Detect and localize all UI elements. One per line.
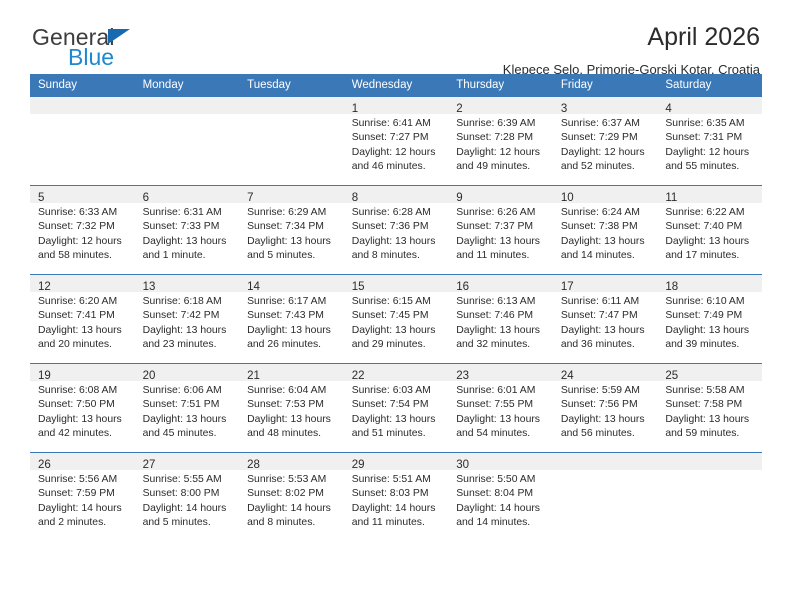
day-number-band: [239, 97, 344, 114]
daylight-duration-line2: and 39 minutes.: [665, 338, 756, 352]
day-cell-details: Sunrise: 6:33 AMSunset: 7:32 PMDaylight:…: [30, 203, 135, 263]
day-number: 5: [38, 192, 44, 204]
daylight-duration-line2: and 11 minutes.: [456, 249, 547, 263]
day-cell-details: Sunrise: 6:04 AMSunset: 7:53 PMDaylight:…: [239, 381, 344, 441]
calendar-day-cell[interactable]: 26Sunrise: 5:56 AMSunset: 7:59 PMDayligh…: [30, 453, 135, 542]
title-block: April 2026 Klepece Selo, Primorje-Gorski…: [503, 22, 760, 80]
sunrise-time: Sunrise: 6:03 AM: [352, 384, 443, 398]
calendar-day-cell[interactable]: 23Sunrise: 6:01 AMSunset: 7:55 PMDayligh…: [448, 364, 553, 453]
day-cell-details: Sunrise: 5:56 AMSunset: 7:59 PMDaylight:…: [30, 470, 135, 530]
day-cell-inner: 20Sunrise: 6:06 AMSunset: 7:51 PMDayligh…: [135, 364, 240, 441]
daylight-duration-line1: Daylight: 13 hours: [247, 235, 338, 249]
sunset-time: Sunset: 7:29 PM: [561, 131, 652, 145]
day-cell-details: Sunrise: 6:11 AMSunset: 7:47 PMDaylight:…: [553, 292, 658, 352]
daylight-duration-line2: and 23 minutes.: [143, 338, 234, 352]
page-header: General Blue April 2026 Klepece Selo, Pr…: [30, 0, 762, 74]
sunrise-time: Sunrise: 5:59 AM: [561, 384, 652, 398]
sunset-time: Sunset: 7:41 PM: [38, 309, 129, 323]
sunrise-time: Sunrise: 6:01 AM: [456, 384, 547, 398]
day-cell-details: Sunrise: 6:01 AMSunset: 7:55 PMDaylight:…: [448, 381, 553, 441]
daylight-duration-line2: and 52 minutes.: [561, 160, 652, 174]
weekday-header-thursday: Thursday: [448, 74, 553, 97]
calendar-day-cell[interactable]: 20Sunrise: 6:06 AMSunset: 7:51 PMDayligh…: [135, 364, 240, 453]
day-cell-details: Sunrise: 5:58 AMSunset: 7:58 PMDaylight:…: [657, 381, 762, 441]
daylight-duration-line1: Daylight: 12 hours: [38, 235, 129, 249]
day-cell-details: Sunrise: 6:08 AMSunset: 7:50 PMDaylight:…: [30, 381, 135, 441]
daylight-duration-line2: and 54 minutes.: [456, 427, 547, 441]
daylight-duration-line2: and 26 minutes.: [247, 338, 338, 352]
calendar-day-cell[interactable]: 7Sunrise: 6:29 AMSunset: 7:34 PMDaylight…: [239, 186, 344, 275]
day-cell-inner: [30, 97, 135, 114]
sunrise-time: Sunrise: 6:18 AM: [143, 295, 234, 309]
day-cell-inner: 5Sunrise: 6:33 AMSunset: 7:32 PMDaylight…: [30, 186, 135, 263]
calendar-day-cell[interactable]: 29Sunrise: 5:51 AMSunset: 8:03 PMDayligh…: [344, 453, 449, 542]
sunset-time: Sunset: 7:40 PM: [665, 220, 756, 234]
weekday-header-tuesday: Tuesday: [239, 74, 344, 97]
daylight-duration-line1: Daylight: 13 hours: [665, 235, 756, 249]
day-number: 1: [352, 103, 358, 115]
calendar-day-cell[interactable]: 18Sunrise: 6:10 AMSunset: 7:49 PMDayligh…: [657, 275, 762, 364]
calendar-day-cell[interactable]: 25Sunrise: 5:58 AMSunset: 7:58 PMDayligh…: [657, 364, 762, 453]
daylight-duration-line2: and 51 minutes.: [352, 427, 443, 441]
sunset-time: Sunset: 7:27 PM: [352, 131, 443, 145]
day-number-band: 18: [657, 275, 762, 292]
day-cell-inner: [239, 97, 344, 114]
day-number: 10: [561, 192, 574, 204]
day-cell-inner: 14Sunrise: 6:17 AMSunset: 7:43 PMDayligh…: [239, 275, 344, 352]
sunrise-time: Sunrise: 6:31 AM: [143, 206, 234, 220]
day-cell-details: Sunrise: 6:29 AMSunset: 7:34 PMDaylight:…: [239, 203, 344, 263]
sunset-time: Sunset: 8:03 PM: [352, 487, 443, 501]
day-cell-inner: 24Sunrise: 5:59 AMSunset: 7:56 PMDayligh…: [553, 364, 658, 441]
day-number-band: 26: [30, 453, 135, 470]
day-number: 11: [665, 192, 677, 204]
day-number: 2: [456, 103, 462, 115]
sunset-time: Sunset: 7:36 PM: [352, 220, 443, 234]
day-number-band: 28: [239, 453, 344, 470]
daylight-duration-line1: Daylight: 12 hours: [352, 146, 443, 160]
daylight-duration-line2: and 20 minutes.: [38, 338, 129, 352]
sunrise-sunset-calendar: Sunday Monday Tuesday Wednesday Thursday…: [30, 74, 762, 542]
day-cell-details: Sunrise: 6:24 AMSunset: 7:38 PMDaylight:…: [553, 203, 658, 263]
daylight-duration-line2: and 55 minutes.: [665, 160, 756, 174]
daylight-duration-line2: and 17 minutes.: [665, 249, 756, 263]
day-cell-inner: 18Sunrise: 6:10 AMSunset: 7:49 PMDayligh…: [657, 275, 762, 352]
sunset-time: Sunset: 7:32 PM: [38, 220, 129, 234]
day-cell-details: Sunrise: 5:53 AMSunset: 8:02 PMDaylight:…: [239, 470, 344, 530]
daylight-duration-line2: and 58 minutes.: [38, 249, 129, 263]
daylight-duration-line1: Daylight: 13 hours: [38, 324, 129, 338]
day-cell-inner: 12Sunrise: 6:20 AMSunset: 7:41 PMDayligh…: [30, 275, 135, 352]
day-cell-details: Sunrise: 5:51 AMSunset: 8:03 PMDaylight:…: [344, 470, 449, 530]
day-number: 12: [38, 281, 51, 293]
day-number: 26: [38, 459, 51, 471]
sunrise-time: Sunrise: 5:56 AM: [38, 473, 129, 487]
daylight-duration-line1: Daylight: 13 hours: [247, 413, 338, 427]
calendar-day-cell-empty: [553, 453, 658, 542]
day-number: 13: [143, 281, 156, 293]
daylight-duration-line1: Daylight: 13 hours: [143, 324, 234, 338]
calendar-week-row: 5Sunrise: 6:33 AMSunset: 7:32 PMDaylight…: [30, 186, 762, 275]
weekday-header-friday: Friday: [553, 74, 658, 97]
day-number: 18: [665, 281, 678, 293]
daylight-duration-line1: Daylight: 13 hours: [38, 413, 129, 427]
sunset-time: Sunset: 7:56 PM: [561, 398, 652, 412]
sunset-time: Sunset: 7:51 PM: [143, 398, 234, 412]
day-number-band: 17: [553, 275, 658, 292]
day-number-band: 16: [448, 275, 553, 292]
day-cell-inner: 30Sunrise: 5:50 AMSunset: 8:04 PMDayligh…: [448, 453, 553, 530]
day-number-band: [657, 453, 762, 470]
sunset-time: Sunset: 7:59 PM: [38, 487, 129, 501]
sunrise-time: Sunrise: 6:13 AM: [456, 295, 547, 309]
day-cell-inner: 13Sunrise: 6:18 AMSunset: 7:42 PMDayligh…: [135, 275, 240, 352]
day-number: 28: [247, 459, 260, 471]
daylight-duration-line2: and 36 minutes.: [561, 338, 652, 352]
daylight-duration-line2: and 32 minutes.: [456, 338, 547, 352]
calendar-body: 1Sunrise: 6:41 AMSunset: 7:27 PMDaylight…: [30, 97, 762, 542]
calendar-day-cell[interactable]: 3Sunrise: 6:37 AMSunset: 7:29 PMDaylight…: [553, 97, 658, 186]
daylight-duration-line2: and 1 minute.: [143, 249, 234, 263]
calendar-day-cell[interactable]: 14Sunrise: 6:17 AMSunset: 7:43 PMDayligh…: [239, 275, 344, 364]
daylight-duration-line1: Daylight: 13 hours: [143, 235, 234, 249]
sunset-time: Sunset: 7:58 PM: [665, 398, 756, 412]
day-cell-inner: 4Sunrise: 6:35 AMSunset: 7:31 PMDaylight…: [657, 97, 762, 174]
sunset-time: Sunset: 8:04 PM: [456, 487, 547, 501]
daylight-duration-line1: Daylight: 13 hours: [665, 413, 756, 427]
sunset-time: Sunset: 7:38 PM: [561, 220, 652, 234]
day-cell-inner: 9Sunrise: 6:26 AMSunset: 7:37 PMDaylight…: [448, 186, 553, 263]
weekday-header-monday: Monday: [135, 74, 240, 97]
daylight-duration-line2: and 42 minutes.: [38, 427, 129, 441]
day-cell-inner: 23Sunrise: 6:01 AMSunset: 7:55 PMDayligh…: [448, 364, 553, 441]
day-cell-details: Sunrise: 6:10 AMSunset: 7:49 PMDaylight:…: [657, 292, 762, 352]
day-number: 30: [456, 459, 469, 471]
calendar-day-cell[interactable]: 19Sunrise: 6:08 AMSunset: 7:50 PMDayligh…: [30, 364, 135, 453]
day-number-band: 4: [657, 97, 762, 114]
day-cell-details: Sunrise: 6:20 AMSunset: 7:41 PMDaylight:…: [30, 292, 135, 352]
daylight-duration-line2: and 8 minutes.: [247, 516, 338, 530]
day-cell-details: Sunrise: 6:39 AMSunset: 7:28 PMDaylight:…: [448, 114, 553, 174]
day-number-band: 14: [239, 275, 344, 292]
sunrise-time: Sunrise: 6:20 AM: [38, 295, 129, 309]
daylight-duration-line1: Daylight: 12 hours: [665, 146, 756, 160]
day-number: 21: [247, 370, 260, 382]
day-number-band: 12: [30, 275, 135, 292]
day-cell-details: Sunrise: 6:17 AMSunset: 7:43 PMDaylight:…: [239, 292, 344, 352]
daylight-duration-line2: and 49 minutes.: [456, 160, 547, 174]
calendar-week-row: 26Sunrise: 5:56 AMSunset: 7:59 PMDayligh…: [30, 453, 762, 542]
sunrise-time: Sunrise: 5:51 AM: [352, 473, 443, 487]
sunset-time: Sunset: 7:49 PM: [665, 309, 756, 323]
day-number-band: 27: [135, 453, 240, 470]
day-number-band: 21: [239, 364, 344, 381]
day-number-band: 24: [553, 364, 658, 381]
sunrise-time: Sunrise: 6:04 AM: [247, 384, 338, 398]
day-number-band: 30: [448, 453, 553, 470]
day-number: 7: [247, 192, 253, 204]
day-cell-details: Sunrise: 6:03 AMSunset: 7:54 PMDaylight:…: [344, 381, 449, 441]
day-number-band: [135, 97, 240, 114]
daylight-duration-line2: and 5 minutes.: [143, 516, 234, 530]
day-cell-details: Sunrise: 6:06 AMSunset: 7:51 PMDaylight:…: [135, 381, 240, 441]
calendar-day-cell-empty: [135, 97, 240, 186]
day-cell-inner: 3Sunrise: 6:37 AMSunset: 7:29 PMDaylight…: [553, 97, 658, 174]
sunrise-time: Sunrise: 6:41 AM: [352, 117, 443, 131]
day-number: 3: [561, 103, 567, 115]
daylight-duration-line1: Daylight: 13 hours: [352, 413, 443, 427]
calendar-day-cell[interactable]: 24Sunrise: 5:59 AMSunset: 7:56 PMDayligh…: [553, 364, 658, 453]
day-number: 25: [665, 370, 678, 382]
day-cell-details: Sunrise: 6:28 AMSunset: 7:36 PMDaylight:…: [344, 203, 449, 263]
sunset-time: Sunset: 7:46 PM: [456, 309, 547, 323]
sunrise-time: Sunrise: 5:50 AM: [456, 473, 547, 487]
day-number: 29: [352, 459, 365, 471]
daylight-duration-line2: and 56 minutes.: [561, 427, 652, 441]
day-number-band: 3: [553, 97, 658, 114]
daylight-duration-line2: and 46 minutes.: [352, 160, 443, 174]
sunrise-time: Sunrise: 6:35 AM: [665, 117, 756, 131]
day-number-band: 5: [30, 186, 135, 203]
daylight-duration-line2: and 29 minutes.: [352, 338, 443, 352]
day-number-band: 20: [135, 364, 240, 381]
sunrise-time: Sunrise: 6:24 AM: [561, 206, 652, 220]
daylight-duration-line1: Daylight: 14 hours: [352, 502, 443, 516]
day-cell-details: Sunrise: 6:37 AMSunset: 7:29 PMDaylight:…: [553, 114, 658, 174]
day-number-band: 8: [344, 186, 449, 203]
day-cell-details: Sunrise: 5:55 AMSunset: 8:00 PMDaylight:…: [135, 470, 240, 530]
day-number: 20: [143, 370, 156, 382]
day-number: 4: [665, 103, 671, 115]
daylight-duration-line1: Daylight: 13 hours: [561, 413, 652, 427]
sunrise-time: Sunrise: 6:10 AM: [665, 295, 756, 309]
weekday-header-wednesday: Wednesday: [344, 74, 449, 97]
daylight-duration-line1: Daylight: 14 hours: [247, 502, 338, 516]
day-cell-inner: 2Sunrise: 6:39 AMSunset: 7:28 PMDaylight…: [448, 97, 553, 174]
calendar-day-cell[interactable]: 15Sunrise: 6:15 AMSunset: 7:45 PMDayligh…: [344, 275, 449, 364]
day-number: 23: [456, 370, 469, 382]
daylight-duration-line2: and 14 minutes.: [456, 516, 547, 530]
day-cell-inner: 15Sunrise: 6:15 AMSunset: 7:45 PMDayligh…: [344, 275, 449, 352]
logo-triangle-icon: [108, 29, 130, 44]
day-cell-inner: 27Sunrise: 5:55 AMSunset: 8:00 PMDayligh…: [135, 453, 240, 530]
sunrise-time: Sunrise: 5:58 AM: [665, 384, 756, 398]
calendar-day-cell-empty: [239, 97, 344, 186]
daylight-duration-line1: Daylight: 13 hours: [456, 413, 547, 427]
calendar-day-cell[interactable]: 17Sunrise: 6:11 AMSunset: 7:47 PMDayligh…: [553, 275, 658, 364]
day-number: 22: [352, 370, 365, 382]
page-title: April 2026: [503, 22, 760, 52]
day-cell-inner: 28Sunrise: 5:53 AMSunset: 8:02 PMDayligh…: [239, 453, 344, 530]
calendar-day-cell[interactable]: 16Sunrise: 6:13 AMSunset: 7:46 PMDayligh…: [448, 275, 553, 364]
sunrise-time: Sunrise: 6:37 AM: [561, 117, 652, 131]
daylight-duration-line1: Daylight: 13 hours: [561, 324, 652, 338]
day-cell-inner: [553, 453, 658, 470]
calendar-day-cell[interactable]: 2Sunrise: 6:39 AMSunset: 7:28 PMDaylight…: [448, 97, 553, 186]
daylight-duration-line1: Daylight: 13 hours: [352, 235, 443, 249]
day-cell-inner: 21Sunrise: 6:04 AMSunset: 7:53 PMDayligh…: [239, 364, 344, 441]
day-number-band: 29: [344, 453, 449, 470]
sunset-time: Sunset: 7:34 PM: [247, 220, 338, 234]
general-blue-logo[interactable]: General Blue: [32, 26, 262, 74]
sunrise-time: Sunrise: 6:22 AM: [665, 206, 756, 220]
day-cell-details: Sunrise: 5:59 AMSunset: 7:56 PMDaylight:…: [553, 381, 658, 441]
day-cell-details: Sunrise: 6:13 AMSunset: 7:46 PMDaylight:…: [448, 292, 553, 352]
day-cell-inner: 29Sunrise: 5:51 AMSunset: 8:03 PMDayligh…: [344, 453, 449, 530]
day-number: 6: [143, 192, 149, 204]
daylight-duration-line1: Daylight: 13 hours: [143, 413, 234, 427]
daylight-duration-line2: and 48 minutes.: [247, 427, 338, 441]
daylight-duration-line1: Daylight: 13 hours: [665, 324, 756, 338]
calendar-day-cell[interactable]: 10Sunrise: 6:24 AMSunset: 7:38 PMDayligh…: [553, 186, 658, 275]
daylight-duration-line1: Daylight: 12 hours: [456, 146, 547, 160]
daylight-duration-line2: and 59 minutes.: [665, 427, 756, 441]
daylight-duration-line2: and 45 minutes.: [143, 427, 234, 441]
logo-text-blue: Blue: [68, 46, 114, 69]
day-number: 9: [456, 192, 462, 204]
day-cell-details: Sunrise: 5:50 AMSunset: 8:04 PMDaylight:…: [448, 470, 553, 530]
day-cell-inner: 17Sunrise: 6:11 AMSunset: 7:47 PMDayligh…: [553, 275, 658, 352]
day-cell-inner: [657, 453, 762, 470]
sunrise-time: Sunrise: 6:33 AM: [38, 206, 129, 220]
sunrise-time: Sunrise: 6:08 AM: [38, 384, 129, 398]
daylight-duration-line2: and 2 minutes.: [38, 516, 129, 530]
day-number-band: 11: [657, 186, 762, 203]
sunset-time: Sunset: 7:33 PM: [143, 220, 234, 234]
sunrise-time: Sunrise: 6:39 AM: [456, 117, 547, 131]
daylight-duration-line1: Daylight: 14 hours: [38, 502, 129, 516]
day-number-band: 10: [553, 186, 658, 203]
sunset-time: Sunset: 7:45 PM: [352, 309, 443, 323]
day-number-band: 6: [135, 186, 240, 203]
day-number: 15: [352, 281, 365, 293]
calendar-week-row: 1Sunrise: 6:41 AMSunset: 7:27 PMDaylight…: [30, 97, 762, 186]
daylight-duration-line2: and 5 minutes.: [247, 249, 338, 263]
day-number-band: 25: [657, 364, 762, 381]
day-number-band: 23: [448, 364, 553, 381]
day-number: 19: [38, 370, 51, 382]
daylight-duration-line2: and 8 minutes.: [352, 249, 443, 263]
sunrise-time: Sunrise: 5:53 AM: [247, 473, 338, 487]
daylight-duration-line1: Daylight: 12 hours: [561, 146, 652, 160]
sunrise-time: Sunrise: 6:26 AM: [456, 206, 547, 220]
calendar-day-cell[interactable]: 4Sunrise: 6:35 AMSunset: 7:31 PMDaylight…: [657, 97, 762, 186]
day-cell-inner: 7Sunrise: 6:29 AMSunset: 7:34 PMDaylight…: [239, 186, 344, 263]
sunset-time: Sunset: 7:31 PM: [665, 131, 756, 145]
calendar-day-cell[interactable]: 5Sunrise: 6:33 AMSunset: 7:32 PMDaylight…: [30, 186, 135, 275]
day-number: 8: [352, 192, 358, 204]
calendar-week-row: 19Sunrise: 6:08 AMSunset: 7:50 PMDayligh…: [30, 364, 762, 453]
sunrise-time: Sunrise: 6:17 AM: [247, 295, 338, 309]
day-number-band: [553, 453, 658, 470]
weekday-header-sunday: Sunday: [30, 74, 135, 97]
calendar-day-cell[interactable]: 30Sunrise: 5:50 AMSunset: 8:04 PMDayligh…: [448, 453, 553, 542]
day-cell-details: Sunrise: 6:35 AMSunset: 7:31 PMDaylight:…: [657, 114, 762, 174]
calendar-day-cell[interactable]: 9Sunrise: 6:26 AMSunset: 7:37 PMDaylight…: [448, 186, 553, 275]
calendar-day-cell[interactable]: 8Sunrise: 6:28 AMSunset: 7:36 PMDaylight…: [344, 186, 449, 275]
calendar-day-cell[interactable]: 21Sunrise: 6:04 AMSunset: 7:53 PMDayligh…: [239, 364, 344, 453]
calendar-day-cell[interactable]: 6Sunrise: 6:31 AMSunset: 7:33 PMDaylight…: [135, 186, 240, 275]
calendar-week-row: 12Sunrise: 6:20 AMSunset: 7:41 PMDayligh…: [30, 275, 762, 364]
calendar-day-cell-empty: [657, 453, 762, 542]
daylight-duration-line2: and 14 minutes.: [561, 249, 652, 263]
sunrise-time: Sunrise: 6:06 AM: [143, 384, 234, 398]
day-cell-inner: 22Sunrise: 6:03 AMSunset: 7:54 PMDayligh…: [344, 364, 449, 441]
weekday-header-row: Sunday Monday Tuesday Wednesday Thursday…: [30, 74, 762, 97]
sunset-time: Sunset: 7:54 PM: [352, 398, 443, 412]
sunset-time: Sunset: 7:42 PM: [143, 309, 234, 323]
calendar-page: General Blue April 2026 Klepece Selo, Pr…: [0, 0, 792, 612]
calendar-day-cell[interactable]: 27Sunrise: 5:55 AMSunset: 8:00 PMDayligh…: [135, 453, 240, 542]
day-number-band: 2: [448, 97, 553, 114]
daylight-duration-line1: Daylight: 14 hours: [456, 502, 547, 516]
sunset-time: Sunset: 7:43 PM: [247, 309, 338, 323]
daylight-duration-line1: Daylight: 13 hours: [456, 324, 547, 338]
day-cell-details: Sunrise: 6:18 AMSunset: 7:42 PMDaylight:…: [135, 292, 240, 352]
sunset-time: Sunset: 7:28 PM: [456, 131, 547, 145]
sunset-time: Sunset: 8:02 PM: [247, 487, 338, 501]
calendar-day-cell[interactable]: 11Sunrise: 6:22 AMSunset: 7:40 PMDayligh…: [657, 186, 762, 275]
sunrise-time: Sunrise: 6:15 AM: [352, 295, 443, 309]
sunrise-time: Sunrise: 6:29 AM: [247, 206, 338, 220]
daylight-duration-line1: Daylight: 13 hours: [456, 235, 547, 249]
day-cell-inner: [135, 97, 240, 114]
sunset-time: Sunset: 7:53 PM: [247, 398, 338, 412]
day-cell-details: Sunrise: 6:22 AMSunset: 7:40 PMDaylight:…: [657, 203, 762, 263]
day-cell-inner: 26Sunrise: 5:56 AMSunset: 7:59 PMDayligh…: [30, 453, 135, 530]
sunset-time: Sunset: 7:50 PM: [38, 398, 129, 412]
sunrise-time: Sunrise: 6:11 AM: [561, 295, 652, 309]
day-number-band: [30, 97, 135, 114]
calendar-day-cell[interactable]: 13Sunrise: 6:18 AMSunset: 7:42 PMDayligh…: [135, 275, 240, 364]
day-cell-inner: 8Sunrise: 6:28 AMSunset: 7:36 PMDaylight…: [344, 186, 449, 263]
daylight-duration-line2: and 11 minutes.: [352, 516, 443, 530]
calendar-day-cell[interactable]: 28Sunrise: 5:53 AMSunset: 8:02 PMDayligh…: [239, 453, 344, 542]
day-number-band: 22: [344, 364, 449, 381]
day-number-band: 13: [135, 275, 240, 292]
day-cell-inner: 25Sunrise: 5:58 AMSunset: 7:58 PMDayligh…: [657, 364, 762, 441]
day-cell-inner: 10Sunrise: 6:24 AMSunset: 7:38 PMDayligh…: [553, 186, 658, 263]
daylight-duration-line1: Daylight: 13 hours: [352, 324, 443, 338]
day-number: 16: [456, 281, 469, 293]
day-cell-inner: 1Sunrise: 6:41 AMSunset: 7:27 PMDaylight…: [344, 97, 449, 174]
sunset-time: Sunset: 7:55 PM: [456, 398, 547, 412]
day-number: 17: [561, 281, 574, 293]
calendar-day-cell[interactable]: 12Sunrise: 6:20 AMSunset: 7:41 PMDayligh…: [30, 275, 135, 364]
calendar-day-cell[interactable]: 22Sunrise: 6:03 AMSunset: 7:54 PMDayligh…: [344, 364, 449, 453]
day-cell-inner: 19Sunrise: 6:08 AMSunset: 7:50 PMDayligh…: [30, 364, 135, 441]
daylight-duration-line1: Daylight: 13 hours: [247, 324, 338, 338]
day-number-band: 9: [448, 186, 553, 203]
day-number: 14: [247, 281, 260, 293]
sunrise-time: Sunrise: 6:28 AM: [352, 206, 443, 220]
sunset-time: Sunset: 7:37 PM: [456, 220, 547, 234]
sunset-time: Sunset: 7:47 PM: [561, 309, 652, 323]
day-cell-inner: 16Sunrise: 6:13 AMSunset: 7:46 PMDayligh…: [448, 275, 553, 352]
day-number-band: 19: [30, 364, 135, 381]
day-number: 27: [143, 459, 156, 471]
day-number-band: 1: [344, 97, 449, 114]
day-cell-details: Sunrise: 6:26 AMSunset: 7:37 PMDaylight:…: [448, 203, 553, 263]
day-cell-details: Sunrise: 6:15 AMSunset: 7:45 PMDaylight:…: [344, 292, 449, 352]
day-cell-inner: 6Sunrise: 6:31 AMSunset: 7:33 PMDaylight…: [135, 186, 240, 263]
day-cell-details: Sunrise: 6:31 AMSunset: 7:33 PMDaylight:…: [135, 203, 240, 263]
sunset-time: Sunset: 8:00 PM: [143, 487, 234, 501]
day-number-band: 7: [239, 186, 344, 203]
calendar-day-cell[interactable]: 1Sunrise: 6:41 AMSunset: 7:27 PMDaylight…: [344, 97, 449, 186]
sunrise-time: Sunrise: 5:55 AM: [143, 473, 234, 487]
day-cell-inner: 11Sunrise: 6:22 AMSunset: 7:40 PMDayligh…: [657, 186, 762, 263]
